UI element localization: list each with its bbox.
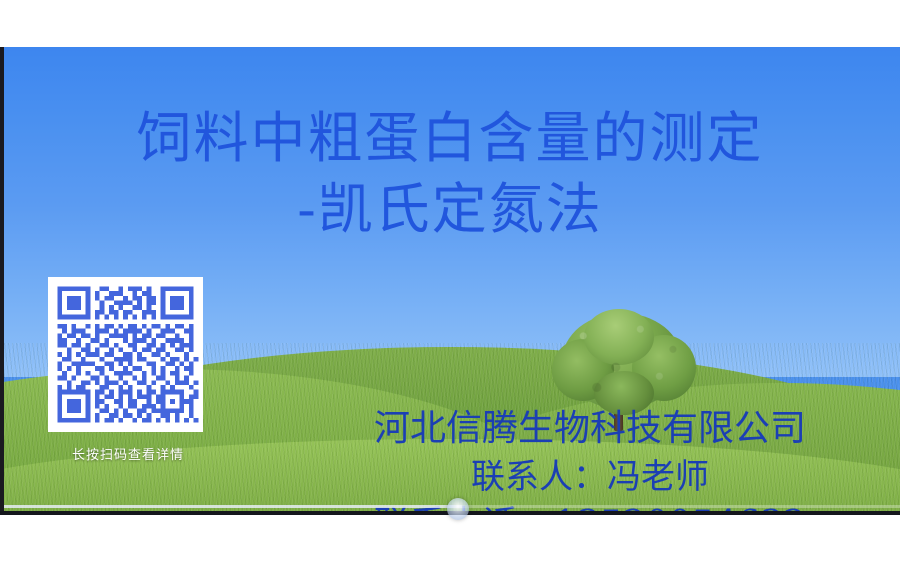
tree-canopy-top-icon [584, 309, 654, 365]
qr-code-block[interactable]: 长按扫码查看详情 [48, 277, 208, 463]
qr-code-icon[interactable] [48, 277, 203, 432]
page-title: 饲料中粗蛋白含量的测定 [0, 102, 900, 174]
page-root: 饲料中粗蛋白含量的测定 -凯氏定氮法 河北信腾生物科技有限公司 联系人：冯老师 … [0, 0, 900, 561]
company-name: 河北信腾生物科技有限公司 [280, 405, 900, 453]
video-scrubber-handle[interactable] [447, 498, 469, 520]
company-contact-block: 河北信腾生物科技有限公司 联系人：冯老师 联系电话：13520054632 [280, 405, 900, 515]
qr-code-caption: 长按扫码查看详情 [48, 444, 208, 463]
page-subtitle: -凯氏定氮法 [0, 174, 900, 244]
media-left-border [0, 47, 4, 515]
video-player-surface[interactable]: 饲料中粗蛋白含量的测定 -凯氏定氮法 河北信腾生物科技有限公司 联系人：冯老师 … [0, 47, 900, 515]
contact-person: 联系人：冯老师 [280, 453, 900, 501]
video-progress-fill [4, 505, 462, 508]
slide-title-block: 饲料中粗蛋白含量的测定 -凯氏定氮法 [0, 102, 900, 244]
